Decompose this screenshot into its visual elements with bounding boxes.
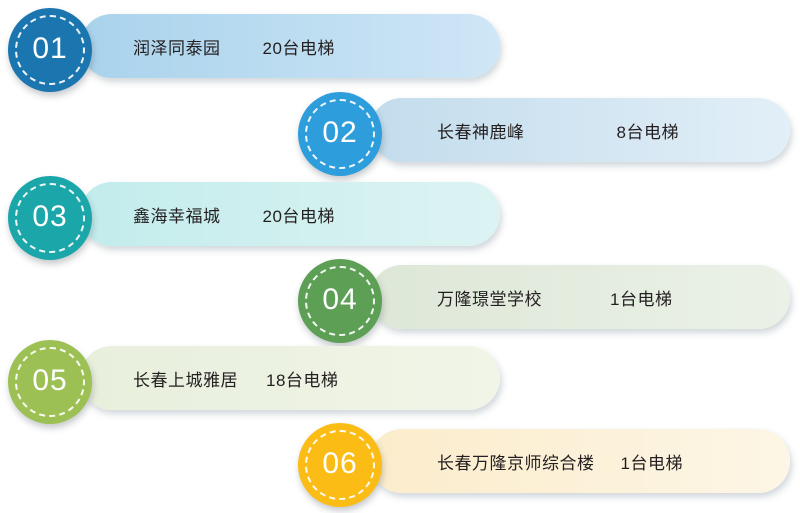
project-bar[interactable]: 润泽同泰园20台电梯 <box>80 14 500 78</box>
project-bar[interactable]: 鑫海幸福城20台电梯 <box>80 182 500 246</box>
project-name: 长春上城雅居 <box>133 366 238 391</box>
project-bar[interactable]: 长春神鹿峰8台电梯 <box>370 98 790 162</box>
project-row[interactable]: 润泽同泰园20台电梯01 <box>0 8 510 96</box>
project-name: 万隆璟堂学校 <box>437 285 542 310</box>
project-number-label: 03 <box>32 202 67 232</box>
project-bar-content: 万隆璟堂学校1台电梯 <box>437 285 672 310</box>
project-row[interactable]: 长春神鹿峰8台电梯02 <box>290 92 800 180</box>
project-bar[interactable]: 长春上城雅居18台电梯 <box>80 346 500 410</box>
project-number-badge[interactable]: 01 <box>8 8 92 92</box>
project-bar-content: 润泽同泰园20台电梯 <box>133 34 335 59</box>
project-number-badge[interactable]: 05 <box>8 340 92 424</box>
project-bar-content: 鑫海幸福城20台电梯 <box>133 202 335 227</box>
project-name: 长春万隆京师综合楼 <box>437 449 595 474</box>
project-elevator-count: 18台电梯 <box>266 366 338 391</box>
project-name: 润泽同泰园 <box>133 34 221 59</box>
project-elevator-count: 20台电梯 <box>263 34 335 59</box>
project-bar-content: 长春万隆京师综合楼1台电梯 <box>437 449 683 474</box>
project-number-label: 06 <box>322 449 357 479</box>
project-elevator-count: 1台电梯 <box>610 285 672 310</box>
project-number-badge[interactable]: 03 <box>8 176 92 260</box>
project-row[interactable]: 长春上城雅居18台电梯05 <box>0 340 510 428</box>
project-row[interactable]: 万隆璟堂学校1台电梯04 <box>290 259 800 347</box>
project-name: 鑫海幸福城 <box>133 202 221 227</box>
elevator-project-infographic: 润泽同泰园20台电梯01长春神鹿峰8台电梯02鑫海幸福城20台电梯03万隆璟堂学… <box>0 0 800 513</box>
project-number-badge[interactable]: 04 <box>298 259 382 343</box>
project-number-label: 04 <box>322 285 357 315</box>
project-row[interactable]: 鑫海幸福城20台电梯03 <box>0 176 510 264</box>
project-number-label: 01 <box>32 34 67 64</box>
project-bar-content: 长春神鹿峰8台电梯 <box>437 118 679 143</box>
project-number-label: 05 <box>32 366 67 396</box>
project-number-badge[interactable]: 02 <box>298 92 382 176</box>
project-elevator-count: 8台电梯 <box>617 118 679 143</box>
project-bar[interactable]: 长春万隆京师综合楼1台电梯 <box>370 429 790 493</box>
project-elevator-count: 1台电梯 <box>621 449 683 474</box>
project-bar-content: 长春上城雅居18台电梯 <box>133 366 338 391</box>
project-number-label: 02 <box>322 118 357 148</box>
project-name: 长春神鹿峰 <box>437 118 525 143</box>
project-bar[interactable]: 万隆璟堂学校1台电梯 <box>370 265 790 329</box>
project-number-badge[interactable]: 06 <box>298 423 382 507</box>
project-row[interactable]: 长春万隆京师综合楼1台电梯06 <box>290 423 800 511</box>
project-elevator-count: 20台电梯 <box>263 202 335 227</box>
